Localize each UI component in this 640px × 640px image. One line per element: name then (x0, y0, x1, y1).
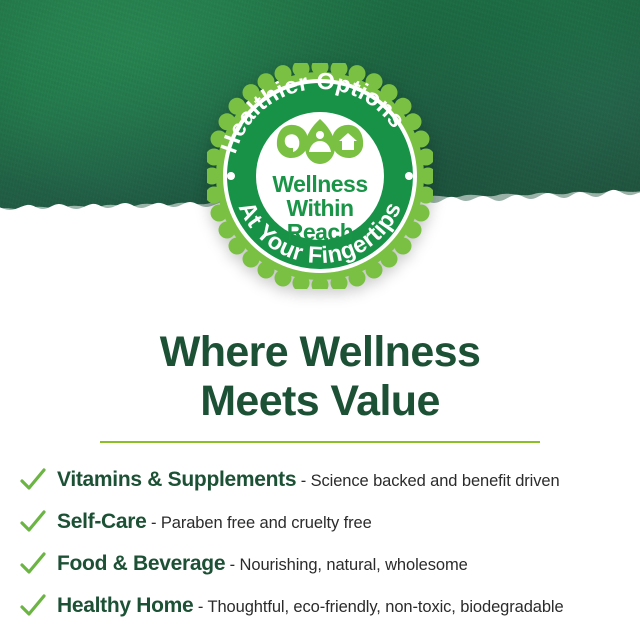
badge-icon-group (277, 119, 363, 164)
list-item: Food & Beverage - Nourishing, natural, w… (18, 544, 628, 584)
page-title: Where Wellness Meets Value (0, 328, 640, 426)
check-icon (18, 507, 48, 537)
list-item-text: Self-Care - Paraben free and cruelty fre… (57, 510, 372, 534)
list-item-text: Vitamins & Supplements - Science backed … (57, 468, 560, 492)
divider-rule (100, 441, 540, 443)
list-item-title: Vitamins & Supplements (57, 468, 296, 491)
list-item: Healthy Home - Thoughtful, eco-friendly,… (18, 586, 628, 626)
list-item-desc: - Nourishing, natural, wholesome (230, 556, 468, 574)
headline-line-1: Where Wellness (160, 328, 481, 376)
badge-center-line-1: Wellness (272, 171, 367, 197)
list-item-text: Food & Beverage - Nourishing, natural, w… (57, 552, 468, 576)
badge-center-line-3: Reach (287, 219, 354, 245)
list-item-title: Healthy Home (57, 594, 193, 617)
list-item-text: Healthy Home - Thoughtful, eco-friendly,… (57, 594, 564, 618)
list-item-title: Self-Care (57, 510, 147, 533)
list-item-title: Food & Beverage (57, 552, 225, 575)
check-icon (18, 465, 48, 495)
benefits-list: Vitamins & Supplements - Science backed … (18, 460, 628, 628)
badge-center-line-2: Within (286, 195, 353, 221)
list-item: Self-Care - Paraben free and cruelty fre… (18, 502, 628, 542)
list-item-desc: - Paraben free and cruelty free (151, 514, 372, 532)
check-icon (18, 591, 48, 621)
badge-separator-dot-left (227, 172, 235, 180)
list-item-desc: - Science backed and benefit driven (301, 472, 560, 490)
wellness-badge-seal: Healthier Options At Your Fingertips (207, 63, 433, 289)
headline-line-2: Meets Value (0, 377, 640, 426)
list-item-desc: - Thoughtful, eco-friendly, non-toxic, b… (198, 598, 564, 616)
promo-banner-page: Healthier Options At Your Fingertips (0, 0, 640, 640)
badge-separator-dot-right (405, 172, 413, 180)
check-icon (18, 549, 48, 579)
list-item: Vitamins & Supplements - Science backed … (18, 460, 628, 500)
